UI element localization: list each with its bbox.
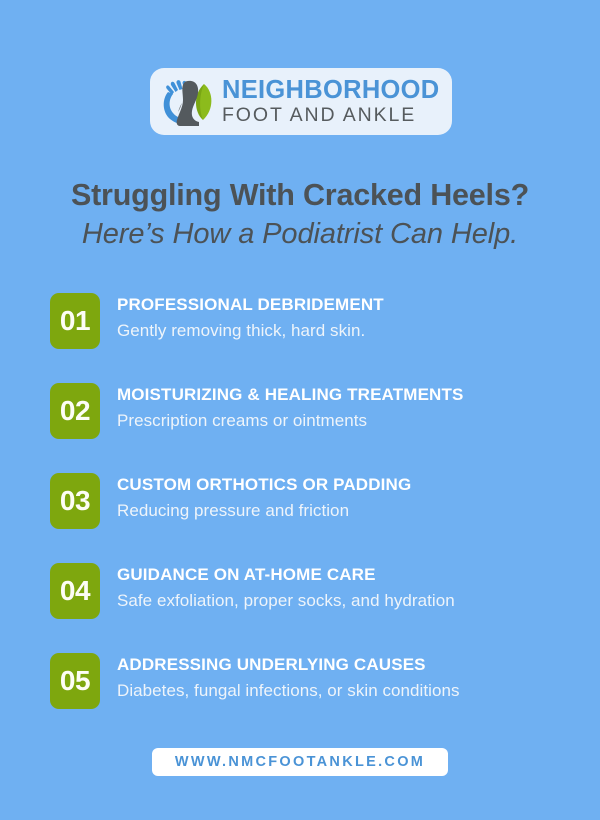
list-item: 04 GUIDANCE ON AT-HOME CARE Safe exfolia…	[50, 563, 580, 619]
step-text: CUSTOM ORTHOTICS OR PADDING Reducing pre…	[117, 473, 411, 523]
steps-list: 01 PROFESSIONAL DEBRIDEMENT Gently remov…	[50, 293, 580, 709]
step-title: ADDRESSING UNDERLYING CAUSES	[117, 654, 460, 676]
step-description: Diabetes, fungal infections, or skin con…	[117, 680, 460, 703]
foot-and-hand-leaf-logo-icon	[158, 72, 218, 132]
step-number-badge: 03	[50, 473, 100, 529]
step-number-badge: 04	[50, 563, 100, 619]
step-text: ADDRESSING UNDERLYING CAUSES Diabetes, f…	[117, 653, 460, 703]
step-title: PROFESSIONAL DEBRIDEMENT	[117, 294, 384, 316]
page-title: Struggling With Cracked Heels?	[0, 178, 600, 212]
step-description: Prescription creams or ointments	[117, 410, 464, 433]
logo-line-foot-and-ankle: FOOT AND ANKLE	[222, 106, 440, 126]
website-url-pill[interactable]: WWW.NMCFOOTANKLE.COM	[152, 748, 448, 776]
step-description: Gently removing thick, hard skin.	[117, 320, 384, 343]
list-item: 05 ADDRESSING UNDERLYING CAUSES Diabetes…	[50, 653, 580, 709]
logo-line-neighborhood: NEIGHBORHOOD	[222, 77, 440, 103]
step-text: PROFESSIONAL DEBRIDEMENT Gently removing…	[117, 293, 384, 343]
step-description: Reducing pressure and friction	[117, 500, 411, 523]
page-subtitle: Here’s How a Podiatrist Can Help.	[0, 217, 600, 252]
list-item: 03 CUSTOM ORTHOTICS OR PADDING Reducing …	[50, 473, 580, 529]
website-url-text: WWW.NMCFOOTANKLE.COM	[175, 754, 425, 770]
list-item: 01 PROFESSIONAL DEBRIDEMENT Gently remov…	[50, 293, 580, 349]
step-number-badge: 05	[50, 653, 100, 709]
step-number-badge: 02	[50, 383, 100, 439]
logo-wordmark: NEIGHBORHOOD FOOT AND ANKLE	[222, 77, 440, 126]
step-title: CUSTOM ORTHOTICS OR PADDING	[117, 474, 411, 496]
logo-card: NEIGHBORHOOD FOOT AND ANKLE	[150, 68, 452, 135]
step-title: MOISTURIZING & HEALING TREATMENTS	[117, 384, 464, 406]
step-description: Safe exfoliation, proper socks, and hydr…	[117, 590, 455, 613]
step-text: GUIDANCE ON AT-HOME CARE Safe exfoliatio…	[117, 563, 455, 613]
step-title: GUIDANCE ON AT-HOME CARE	[117, 564, 455, 586]
step-text: MOISTURIZING & HEALING TREATMENTS Prescr…	[117, 383, 464, 433]
list-item: 02 MOISTURIZING & HEALING TREATMENTS Pre…	[50, 383, 580, 439]
headline-block: Struggling With Cracked Heels? Here’s Ho…	[0, 178, 600, 252]
step-number-badge: 01	[50, 293, 100, 349]
